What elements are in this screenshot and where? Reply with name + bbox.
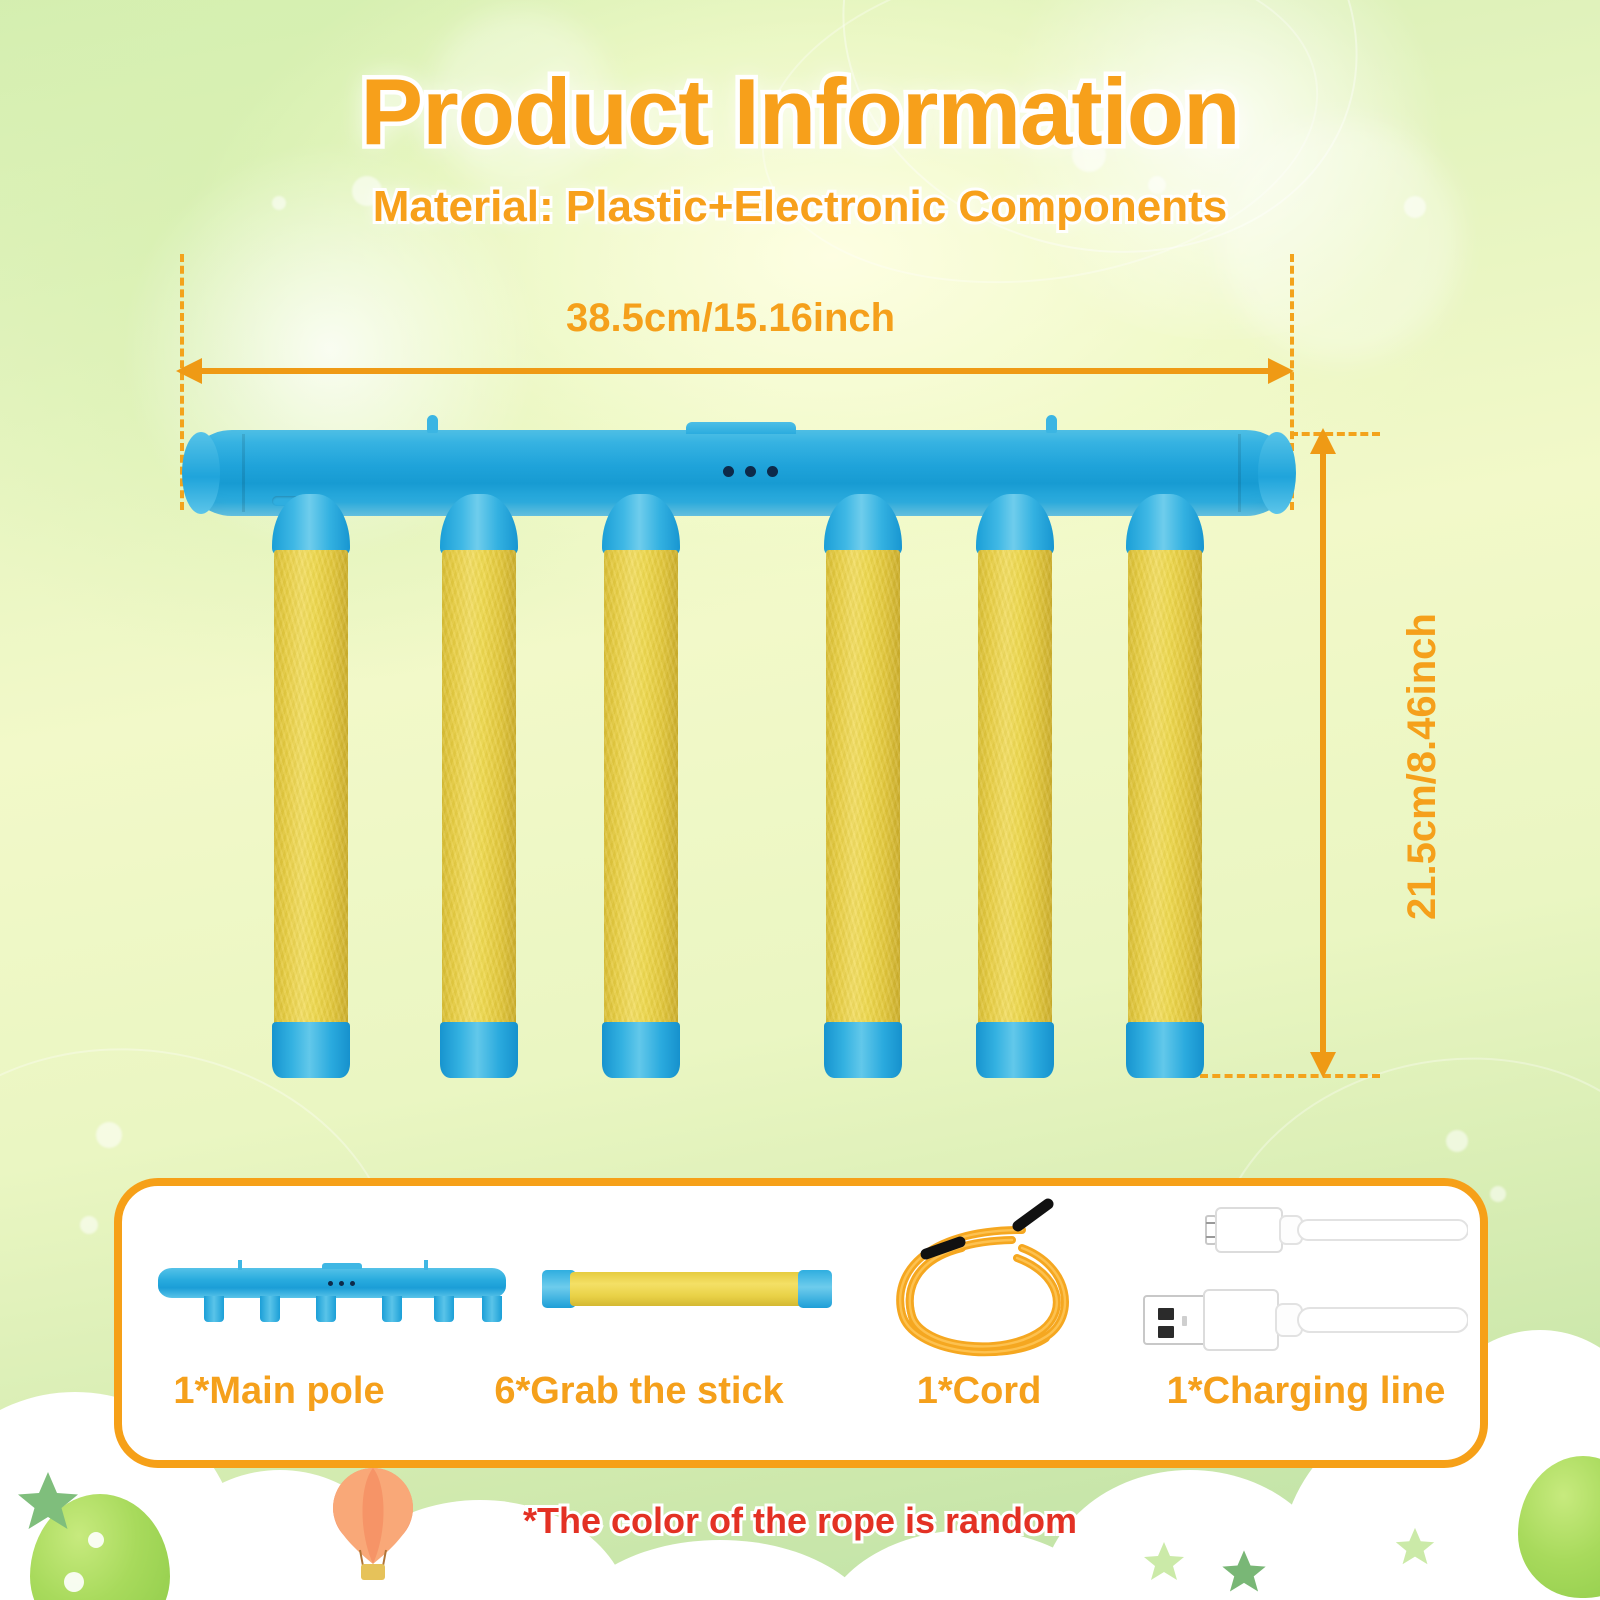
rope-color-note: *The color of the rope is random (0, 1500, 1600, 1542)
indicator-light (767, 466, 778, 477)
height-arrow-up (1310, 428, 1336, 454)
pole-top-nub (1046, 415, 1057, 433)
grab-stick (1128, 550, 1202, 1030)
t-joint (976, 494, 1054, 556)
stick-end-cap (440, 1022, 518, 1078)
content-label-cord: 1*Cord (834, 1370, 1124, 1413)
pole-seam (1238, 434, 1241, 512)
width-dimension-line (198, 368, 1280, 374)
height-dimension-label: 21.5cm/8.46inch (1400, 613, 1445, 920)
width-arrow-left (176, 358, 202, 384)
indicator-light (745, 466, 756, 477)
material-subtitle: Material: Plastic+Electronic Components (0, 182, 1600, 232)
guide-bottom-horizontal (1200, 1074, 1380, 1078)
stick-end-cap (602, 1022, 680, 1078)
content-label-charging-line: 1*Charging line (1124, 1370, 1488, 1413)
package-contents-labels: 1*Main pole 6*Grab the stick 1*Cord 1*Ch… (114, 1370, 1488, 1413)
page-title: Product Information (0, 58, 1600, 166)
stick-end-cap (272, 1022, 350, 1078)
grab-stick (604, 550, 678, 1030)
t-joint (602, 494, 680, 556)
grab-stick-icon (542, 1258, 832, 1318)
main-pole-icon (152, 1244, 512, 1354)
t-joint (1126, 494, 1204, 556)
stick-end-cap (1126, 1022, 1204, 1078)
cloud (560, 1540, 880, 1600)
grab-stick (442, 550, 516, 1030)
height-dimension-line (1320, 452, 1326, 1056)
package-contents-box (114, 1178, 1488, 1468)
grab-stick (978, 550, 1052, 1030)
charging-cable-icon (1138, 1202, 1468, 1366)
indicator-light (723, 466, 734, 477)
pole-top-plate (686, 422, 796, 434)
width-dimension-label: 38.5cm/15.16inch (566, 296, 895, 341)
grab-stick (274, 550, 348, 1030)
stick-end-cap (976, 1022, 1054, 1078)
content-label-main-pole: 1*Main pole (114, 1370, 444, 1413)
stick-end-cap (824, 1022, 902, 1078)
width-arrow-right (1268, 358, 1294, 384)
product-information-infographic: Product Information Material: Plastic+El… (0, 0, 1600, 1600)
height-arrow-down (1310, 1052, 1336, 1078)
grab-stick (826, 550, 900, 1030)
content-label-grab-stick: 6*Grab the stick (444, 1370, 834, 1413)
t-joint (824, 494, 902, 556)
cord-icon (862, 1196, 1092, 1382)
